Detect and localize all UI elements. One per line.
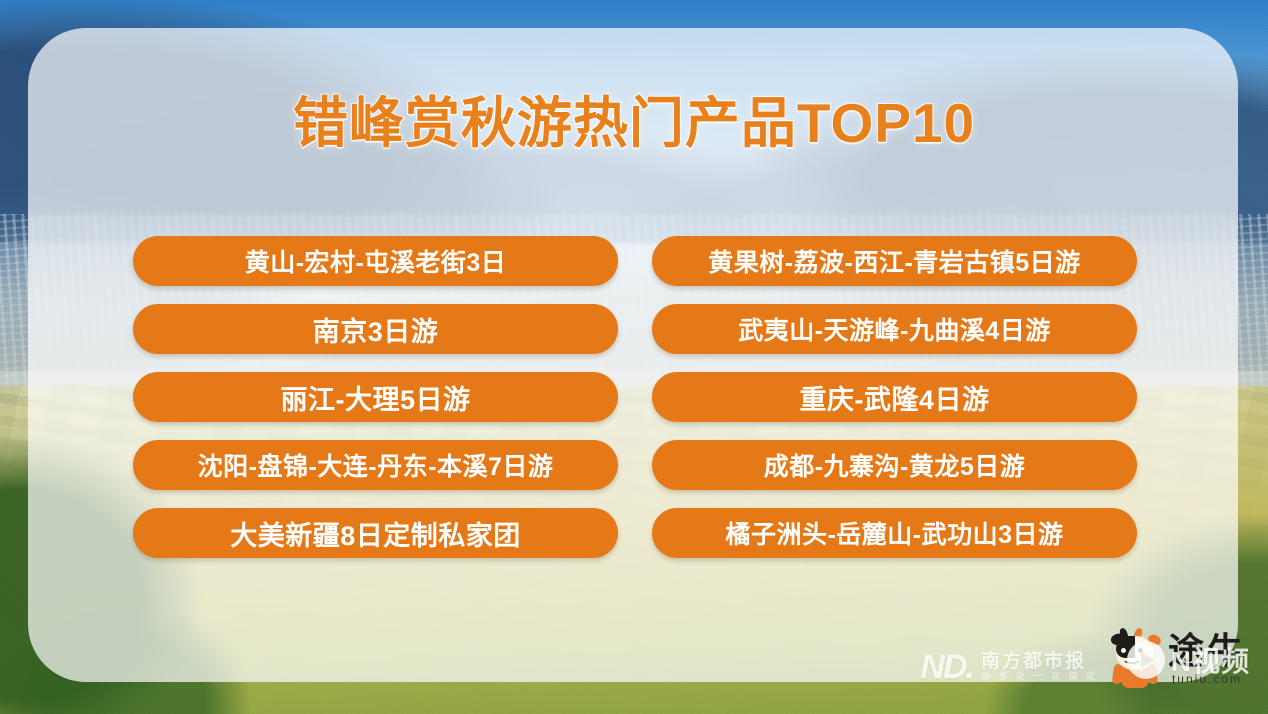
ranking-item-8[interactable]: 重庆-武隆4日游 [652, 372, 1137, 422]
page-title: 错峰赏秋游热门产品TOP10 [0, 78, 1268, 158]
ranking-item-4[interactable]: 沈阳-盘锦-大连-丹东-本溪7日游 [133, 440, 618, 490]
ranking-item-9[interactable]: 成都-九寨沟-黄龙5日游 [652, 440, 1137, 490]
ranking-item-3[interactable]: 丽江-大理5日游 [133, 372, 618, 422]
ranking-item-5[interactable]: 大美新疆8日定制私家团 [133, 508, 618, 558]
ranking-item-2[interactable]: 南京3日游 [133, 304, 618, 354]
ranking-item-1[interactable]: 黄山-宏村-屯溪老街3日 [133, 236, 618, 286]
poster-canvas: 错峰赏秋游热门产品TOP10 黄山-宏村-屯溪老街3日 黄果树-荔波-西江-青岩… [0, 0, 1268, 714]
ranking-item-6[interactable]: 黄果树-荔波-西江-青岩古镇5日游 [652, 236, 1137, 286]
ranking-grid: 黄山-宏村-屯溪老街3日 黄果树-荔波-西江-青岩古镇5日游 南京3日游 武夷山… [133, 236, 1137, 558]
ranking-item-7[interactable]: 武夷山-天游峰-九曲溪4日游 [652, 304, 1137, 354]
ranking-item-10[interactable]: 橘子洲头-岳麓山-武功山3日游 [652, 508, 1137, 558]
